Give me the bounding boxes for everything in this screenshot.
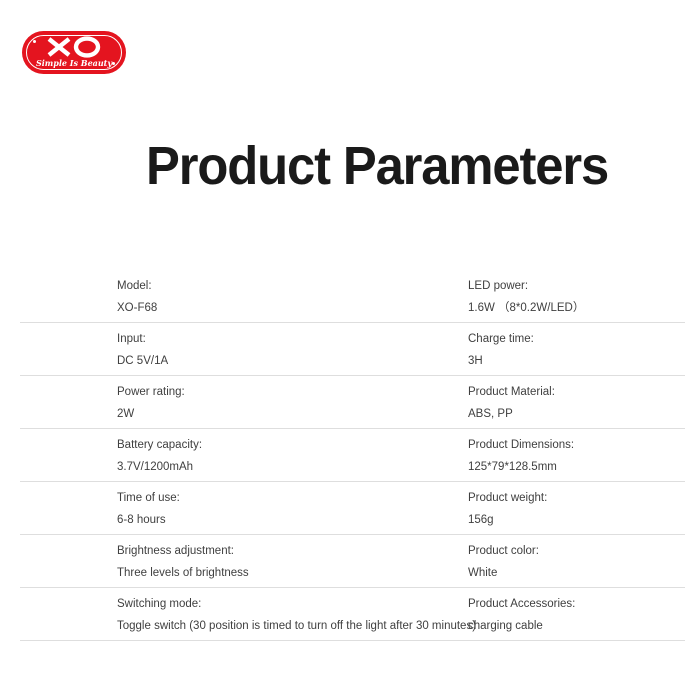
table-row: Brightness adjustment: Three levels of b… bbox=[20, 535, 685, 588]
spec-value: Toggle switch (30 position is timed to t… bbox=[117, 615, 476, 637]
spec-cell-right: Product weight: 156g bbox=[468, 487, 547, 531]
table-row: Power rating: 2W Product Material: ABS, … bbox=[20, 376, 685, 429]
spec-label: Product Material: bbox=[468, 381, 555, 403]
spec-cell-right: Charge time: 3H bbox=[468, 328, 534, 372]
spec-value: White bbox=[468, 562, 539, 584]
spec-label: Product weight: bbox=[468, 487, 547, 509]
spec-value: 3H bbox=[468, 350, 534, 372]
table-row: Model: XO-F68 LED power: 1.6W （8*0.2W/LE… bbox=[20, 270, 685, 323]
spec-value: 125*79*128.5mm bbox=[468, 456, 574, 478]
spec-value: Three levels of brightness bbox=[117, 562, 249, 584]
spec-value: 1.6W （8*0.2W/LED） bbox=[468, 297, 584, 319]
spec-cell-left: Model: XO-F68 bbox=[117, 275, 157, 319]
brand-logo: Simple Is Beauty bbox=[22, 31, 126, 74]
spec-value: XO-F68 bbox=[117, 297, 157, 319]
spec-label: Charge time: bbox=[468, 328, 534, 350]
spec-label: Battery capacity: bbox=[117, 434, 202, 456]
page-title: Product Parameters bbox=[146, 133, 608, 199]
table-row: Battery capacity: 3.7V/1200mAh Product D… bbox=[20, 429, 685, 482]
spec-value: 6-8 hours bbox=[117, 509, 180, 531]
spec-value: 2W bbox=[117, 403, 185, 425]
spec-label: Product Dimensions: bbox=[468, 434, 574, 456]
table-row: Switching mode: Toggle switch (30 positi… bbox=[20, 588, 685, 641]
spec-label: Model: bbox=[117, 275, 157, 297]
spec-cell-right: Product Accessories: charging cable bbox=[468, 593, 575, 637]
spec-value: DC 5V/1A bbox=[117, 350, 168, 372]
spec-label: Product Accessories: bbox=[468, 593, 575, 615]
spec-value: 3.7V/1200mAh bbox=[117, 456, 202, 478]
spec-cell-left: Switching mode: Toggle switch (30 positi… bbox=[117, 593, 476, 637]
spec-value: ABS, PP bbox=[468, 403, 555, 425]
spec-label: Product color: bbox=[468, 540, 539, 562]
table-row: Input: DC 5V/1A Charge time: 3H bbox=[20, 323, 685, 376]
spec-cell-right: Product color: White bbox=[468, 540, 539, 584]
spec-cell-left: Time of use: 6-8 hours bbox=[117, 487, 180, 531]
spec-cell-left: Input: DC 5V/1A bbox=[117, 328, 168, 372]
spec-cell-right: LED power: 1.6W （8*0.2W/LED） bbox=[468, 275, 584, 319]
spec-label: Power rating: bbox=[117, 381, 185, 403]
xo-logo-icon bbox=[22, 36, 126, 58]
spec-label: Brightness adjustment: bbox=[117, 540, 249, 562]
spec-cell-left: Power rating: 2W bbox=[117, 381, 185, 425]
spec-label: Switching mode: bbox=[117, 593, 476, 615]
spec-value: 156g bbox=[468, 509, 547, 531]
table-row: Time of use: 6-8 hours Product weight: 1… bbox=[20, 482, 685, 535]
spec-label: Time of use: bbox=[117, 487, 180, 509]
spec-label: Input: bbox=[117, 328, 168, 350]
spec-cell-left: Brightness adjustment: Three levels of b… bbox=[117, 540, 249, 584]
spec-cell-left: Battery capacity: 3.7V/1200mAh bbox=[117, 434, 202, 478]
spec-cell-right: Product Dimensions: 125*79*128.5mm bbox=[468, 434, 574, 478]
spec-label: LED power: bbox=[468, 275, 584, 297]
spec-cell-right: Product Material: ABS, PP bbox=[468, 381, 555, 425]
brand-tagline: Simple Is Beauty bbox=[22, 59, 126, 68]
row-divider bbox=[20, 640, 685, 641]
spec-value: charging cable bbox=[468, 615, 575, 637]
product-parameters-table: Model: XO-F68 LED power: 1.6W （8*0.2W/LE… bbox=[20, 270, 685, 641]
